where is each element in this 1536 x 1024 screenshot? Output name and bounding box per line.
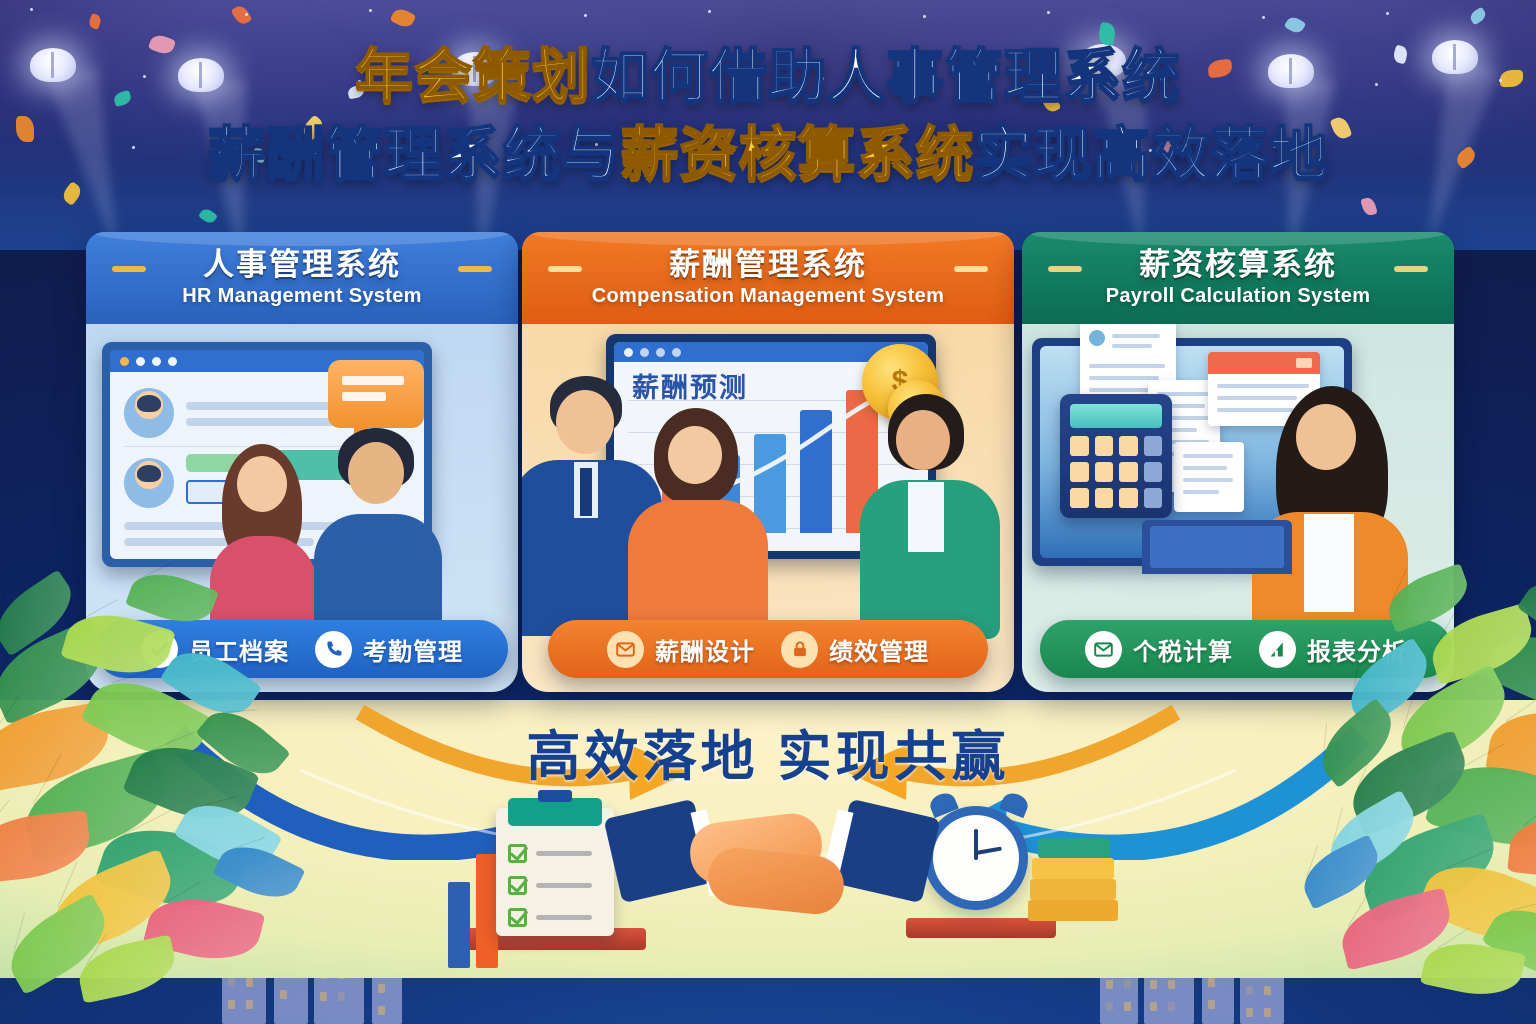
feature-label: 个税计算 bbox=[1133, 632, 1233, 667]
feature-label: 员工档案 bbox=[189, 632, 289, 667]
poster-title-block: 年会策划如何借助人事管理系统 薪酬管理系统与薪资核算系统实现高效落地 bbox=[0, 38, 1536, 194]
calculator-icon bbox=[1060, 394, 1172, 518]
person-woman-hr bbox=[204, 444, 324, 634]
checklist-line bbox=[536, 851, 592, 856]
checkbox-icon bbox=[508, 844, 527, 863]
clipboard-clip bbox=[508, 798, 602, 826]
feature-item[interactable]: 绩效管理 bbox=[781, 631, 929, 668]
sparkle bbox=[923, 15, 926, 18]
card-title-zh: 人事管理系统 bbox=[86, 239, 518, 284]
card-header-compensation: 薪酬管理系统 Compensation Management System bbox=[522, 232, 1014, 324]
feature-item[interactable]: 薪酬设计 bbox=[607, 631, 755, 668]
feature-item[interactable]: 考勤管理 bbox=[315, 631, 463, 668]
avatar bbox=[124, 388, 174, 438]
checklist-line bbox=[536, 915, 592, 920]
title-line-2: 薪酬管理系统与薪资核算系统实现高效落地 bbox=[0, 116, 1536, 194]
hand-right bbox=[705, 845, 846, 917]
dash-right-icon bbox=[954, 266, 988, 272]
dash-left-icon bbox=[112, 266, 146, 272]
dash-left-icon bbox=[1048, 266, 1082, 272]
card-title-en: Payroll Calculation System bbox=[1022, 285, 1454, 308]
sparkle bbox=[584, 14, 587, 17]
title-line-1-rest: 如何借助人事管理系统 bbox=[591, 38, 1181, 116]
card-header-hr: 人事管理系统 HR Management System bbox=[86, 232, 518, 324]
calculator-keys[interactable] bbox=[1070, 436, 1162, 508]
calculator-display bbox=[1070, 404, 1162, 428]
envelope-icon bbox=[607, 631, 644, 668]
phone-icon bbox=[315, 631, 352, 668]
lock-icon bbox=[781, 631, 818, 668]
dash-left-icon bbox=[548, 266, 582, 272]
sparkle bbox=[30, 8, 33, 11]
check-icon bbox=[141, 631, 178, 668]
checklist-line bbox=[536, 883, 592, 888]
sparkle bbox=[708, 10, 711, 13]
person-woman-teal bbox=[860, 394, 1006, 639]
title-line-1-highlight: 年会策划 bbox=[355, 38, 591, 116]
avatar bbox=[124, 458, 174, 508]
envelope-icon bbox=[1085, 631, 1122, 668]
chart-icon bbox=[1259, 631, 1296, 668]
checkbox-icon bbox=[508, 908, 527, 927]
card-header-payroll: 薪资核算系统 Payroll Calculation System bbox=[1022, 232, 1454, 324]
laptop-icon bbox=[1142, 520, 1292, 574]
alarm-clock-icon bbox=[924, 806, 1028, 910]
card-title-en: HR Management System bbox=[86, 285, 518, 308]
band-slogan: 高效落地 实现共赢 bbox=[0, 712, 1536, 791]
sparkle bbox=[369, 9, 372, 12]
person-woman-orange bbox=[624, 408, 772, 638]
infographic-poster: 年会策划如何借助人事管理系统 薪酬管理系统与薪资核算系统实现高效落地 高效落地 … bbox=[0, 0, 1536, 1024]
person-man-hr bbox=[314, 428, 444, 638]
handshake-icon bbox=[612, 790, 932, 940]
dash-right-icon bbox=[1394, 266, 1428, 272]
dash-right-icon bbox=[458, 266, 492, 272]
feature-item[interactable]: 报表分析 bbox=[1259, 631, 1407, 668]
feature-item[interactable]: 个税计算 bbox=[1085, 631, 1233, 668]
title-line-2-highlight: 薪资核算系统 bbox=[620, 116, 974, 194]
card-title-zh: 薪酬管理系统 bbox=[522, 239, 1014, 284]
sparkle bbox=[1047, 11, 1050, 14]
clipboard-checklist-icon bbox=[496, 808, 614, 936]
person-woman-payroll bbox=[1248, 386, 1416, 636]
sparkle bbox=[1262, 16, 1265, 19]
document-icon bbox=[1174, 442, 1244, 512]
chat-bubble-icon bbox=[328, 360, 424, 428]
feature-label: 报表分析 bbox=[1307, 632, 1407, 667]
window-dots-icon bbox=[120, 357, 177, 366]
sparkle bbox=[245, 13, 248, 16]
title-line-1: 年会策划如何借助人事管理系统 bbox=[0, 38, 1536, 116]
card-title-zh: 薪资核算系统 bbox=[1022, 239, 1454, 284]
sparkle bbox=[1386, 12, 1389, 15]
feature-label: 薪酬设计 bbox=[655, 632, 755, 667]
feature-item[interactable]: 员工档案 bbox=[141, 631, 289, 668]
pill-compensation-features[interactable]: 薪酬设计 绩效管理 bbox=[548, 620, 988, 678]
card-title-en: Compensation Management System bbox=[522, 285, 1014, 308]
pill-payroll-features[interactable]: 个税计算 报表分析 bbox=[1040, 620, 1452, 678]
feature-label: 考勤管理 bbox=[363, 632, 463, 667]
title-line-2-part-2: 实现高效落地 bbox=[975, 116, 1329, 194]
checkbox-icon bbox=[508, 876, 527, 895]
title-line-2-part-1: 薪酬管理系统与 bbox=[207, 116, 620, 194]
pill-hr-features[interactable]: 员工档案 考勤管理 bbox=[96, 620, 508, 678]
feature-label: 绩效管理 bbox=[829, 632, 929, 667]
